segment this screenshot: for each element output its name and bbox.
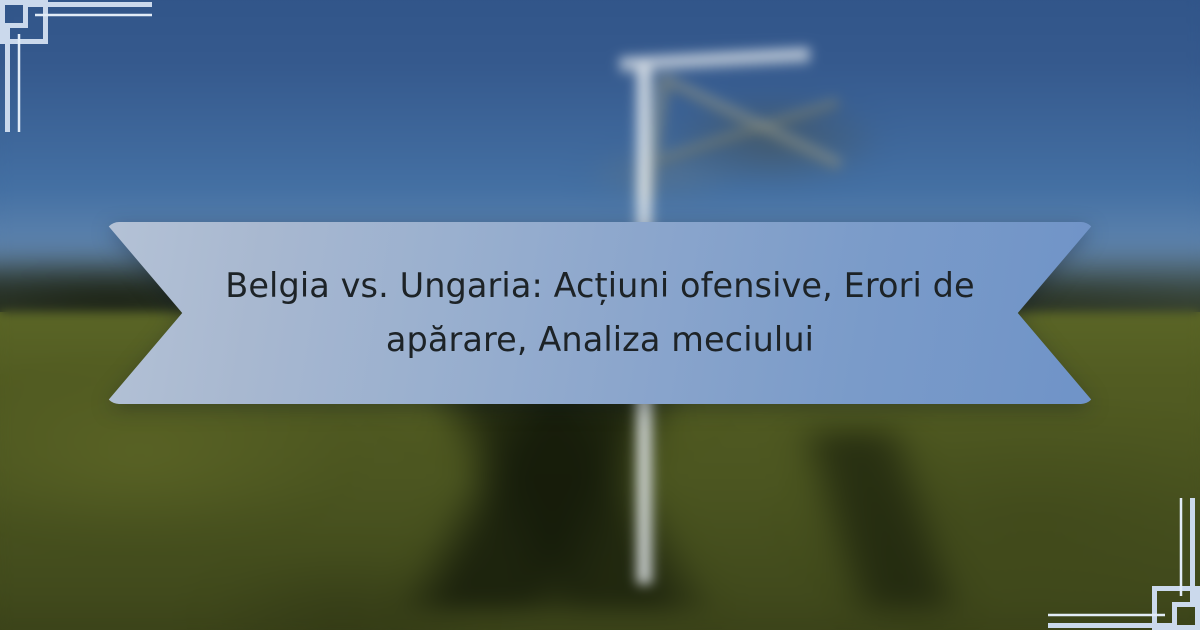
page-title-line-1: Belgia vs. Ungaria: Acțiuni ofensive, Er… xyxy=(225,266,974,305)
ribbon-text-container: Belgia vs. Ungaria: Acțiuni ofensive, Er… xyxy=(105,222,1095,404)
corner-ornament-top-left xyxy=(0,0,152,132)
title-ribbon-banner: Belgia vs. Ungaria: Acțiuni ofensive, Er… xyxy=(105,222,1095,404)
page-title-line-2: apărare, Analiza meciului xyxy=(386,320,814,359)
corner-bracket-icon xyxy=(0,0,152,132)
corner-bracket-icon xyxy=(1048,498,1200,630)
social-share-card: Belgia vs. Ungaria: Acțiuni ofensive, Er… xyxy=(0,0,1200,630)
page-title: Belgia vs. Ungaria: Acțiuni ofensive, Er… xyxy=(225,259,975,368)
corner-ornament-bottom-right xyxy=(1048,498,1200,630)
